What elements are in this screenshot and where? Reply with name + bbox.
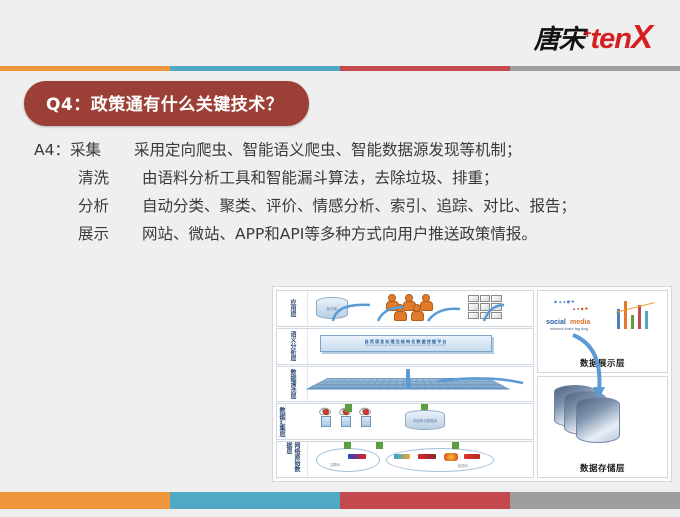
upward-flow-arrow [376, 441, 383, 449]
crawler-bug-icon [359, 408, 368, 415]
panel-storage-layer: 数据存储层 [537, 376, 668, 478]
answer-tag-3: 展示 [78, 220, 142, 248]
logo-chinese-text: 唐宋 [534, 19, 584, 56]
logo-x-text: X [631, 18, 652, 56]
layer-body-application: 知识库 [308, 291, 533, 326]
panel-label-storage: 数据存储层 [580, 462, 625, 474]
upward-flow-arrow [421, 403, 428, 410]
slide-canvas: 唐宋 + ten X Q4：政策通有什么关键技术？ A4：采集采用定向爬虫、智能… [0, 0, 680, 517]
answer-row-0: A4：采集采用定向爬虫、智能语义爬虫、智能数据源发现等机制； [34, 136, 654, 164]
diagram-side-panels: social media network share tag blog ◆ ▲ … [537, 290, 668, 478]
layer-label-collection: 数据汇集层 [277, 404, 286, 439]
flow-arrow-cleaning [308, 367, 533, 402]
crawler-node-icon [321, 416, 331, 427]
answer-tag-1: 清洗 [78, 164, 142, 192]
diagram-layer-cleaning: 数据清洗层 [276, 366, 534, 403]
diagram-layer-collection: 数据汇集层 非结构化数据库 [276, 403, 534, 440]
crawler-node-icon [341, 416, 351, 427]
word-cloud-term: social [546, 319, 566, 326]
doodle-bar [645, 311, 648, 329]
answer-row-1: 清洗由语料分析工具和智能漏斗算法，去除垃圾、排重； [34, 164, 654, 192]
top-color-rule [0, 66, 680, 71]
unstructured-db-cylinder: 非结构化数据库 [405, 410, 445, 430]
architecture-diagram-image: 应用层 知识库 [272, 286, 672, 482]
layer-label-semantic: 语义分析层 [277, 329, 308, 364]
answer-row-2: 分析自动分类、聚类、评价、情感分析、索引、追踪、对比、报告； [34, 192, 654, 220]
answer-text-2: 自动分类、聚类、评价、情感分析、索引、追踪、对比、报告； [142, 197, 576, 215]
layer-label-application: 应用层 [277, 291, 308, 326]
internet-cloud-label: 互联网 [330, 462, 340, 467]
layer-body-cleaning [308, 367, 533, 402]
bottom-color-rule [0, 492, 680, 509]
diagram-layer-raw-data: 网络原始数据层 互联网 政务网 [276, 441, 534, 478]
layer-body-semantic: 自然语言处理及结构化数据挖掘平台 Natural Language Proces… [308, 329, 533, 364]
panel-label-presentation: 数据展示层 [580, 357, 625, 369]
flow-arrows-application [308, 291, 533, 326]
question-badge: Q4：政策通有什么关键技术？ [24, 81, 309, 126]
govnet-cloud-label: 政务网 [458, 463, 468, 468]
footer-segment-gray [510, 492, 680, 509]
doodle-bar [638, 305, 641, 329]
answer-text-0: 采用定向爬虫、智能语义爬虫、智能数据源发现等机制； [134, 141, 522, 159]
logo-plus-mark: + [583, 25, 591, 42]
answer-lead: A4： [34, 136, 70, 164]
brand-logo: 唐宋 + ten X [534, 18, 652, 56]
answer-text-1: 由语料分析工具和智能漏斗算法，去除垃圾、排重； [142, 169, 499, 187]
internet-cloud-shape [316, 448, 380, 472]
crawler-node-icon [361, 416, 371, 427]
rule-segment-orange [0, 66, 170, 71]
storage-cylinder-icon [576, 397, 620, 443]
word-cloud-graphic: social media network share tag blog ◆ ▲ … [544, 295, 606, 335]
layer-label-cleaning: 数据清洗层 [277, 367, 308, 402]
layer-body-collection: 数据汇集层 非结构化数据库 [277, 404, 533, 439]
upward-flow-arrow [345, 403, 352, 412]
answer-text-3: 网站、微站、APP和API等多种方式向用户推送政策情报。 [142, 225, 537, 243]
doodle-bar [624, 301, 627, 329]
source-logo-icon [418, 454, 436, 459]
question-label: Q4：政策通有什么关键技术？ [46, 95, 283, 115]
doodle-bar [631, 315, 634, 329]
word-cloud-term: media [570, 319, 590, 326]
doodle-trend-line [615, 302, 654, 313]
source-logo-icon [394, 454, 410, 459]
upward-flow-arrow [452, 441, 459, 449]
nlp-platform-en-label: Natural Language Processing & Structured… [321, 344, 491, 347]
source-logo-icon [348, 454, 366, 459]
rule-segment-gray [510, 66, 680, 71]
layer-body-raw-data: 互联网 政务网 [308, 442, 533, 477]
word-cloud-term: ◆ ▲ ● ◼ ✚ [554, 299, 575, 304]
footer-segment-red [340, 492, 510, 509]
answer-block: A4：采集采用定向爬虫、智能语义爬虫、智能数据源发现等机制； 清洗由语料分析工具… [34, 136, 654, 248]
layer-label-raw-data: 网络原始数据层 [277, 442, 308, 477]
diagram-layer-stack: 应用层 知识库 [276, 290, 534, 478]
footer-segment-orange [0, 492, 170, 509]
word-cloud-term: ▲ ● ◆ ✚ [572, 306, 588, 311]
unstructured-db-label: 非结构化数据库 [406, 419, 444, 424]
answer-tag-2: 分析 [78, 192, 142, 220]
source-logo-icon [464, 454, 480, 459]
answer-row-3: 展示网站、微站、APP和API等多种方式向用户推送政策情报。 [34, 220, 654, 248]
panel-presentation-layer: social media network share tag blog ◆ ▲ … [537, 290, 668, 373]
logo-ten-text: ten [590, 23, 631, 56]
rule-segment-blue [170, 66, 340, 71]
footer-segment-blue [170, 492, 340, 509]
rule-segment-red [340, 66, 510, 71]
answer-tag-0: 采集 [70, 136, 134, 164]
source-logo-icon [444, 453, 458, 461]
chart-doodle-graphic [611, 295, 663, 335]
diagram-layer-semantic: 语义分析层 自然语言处理及结构化数据挖掘平台 Natural Language … [276, 328, 534, 365]
govnet-cloud-shape [386, 448, 494, 472]
upward-flow-arrow [344, 441, 351, 449]
crawler-bug-icon [319, 408, 328, 415]
nlp-platform-slab: 自然语言处理及结构化数据挖掘平台 Natural Language Proces… [320, 335, 492, 352]
diagram-layer-application: 应用层 知识库 [276, 290, 534, 327]
word-cloud-term: network share tag blog [550, 327, 588, 331]
